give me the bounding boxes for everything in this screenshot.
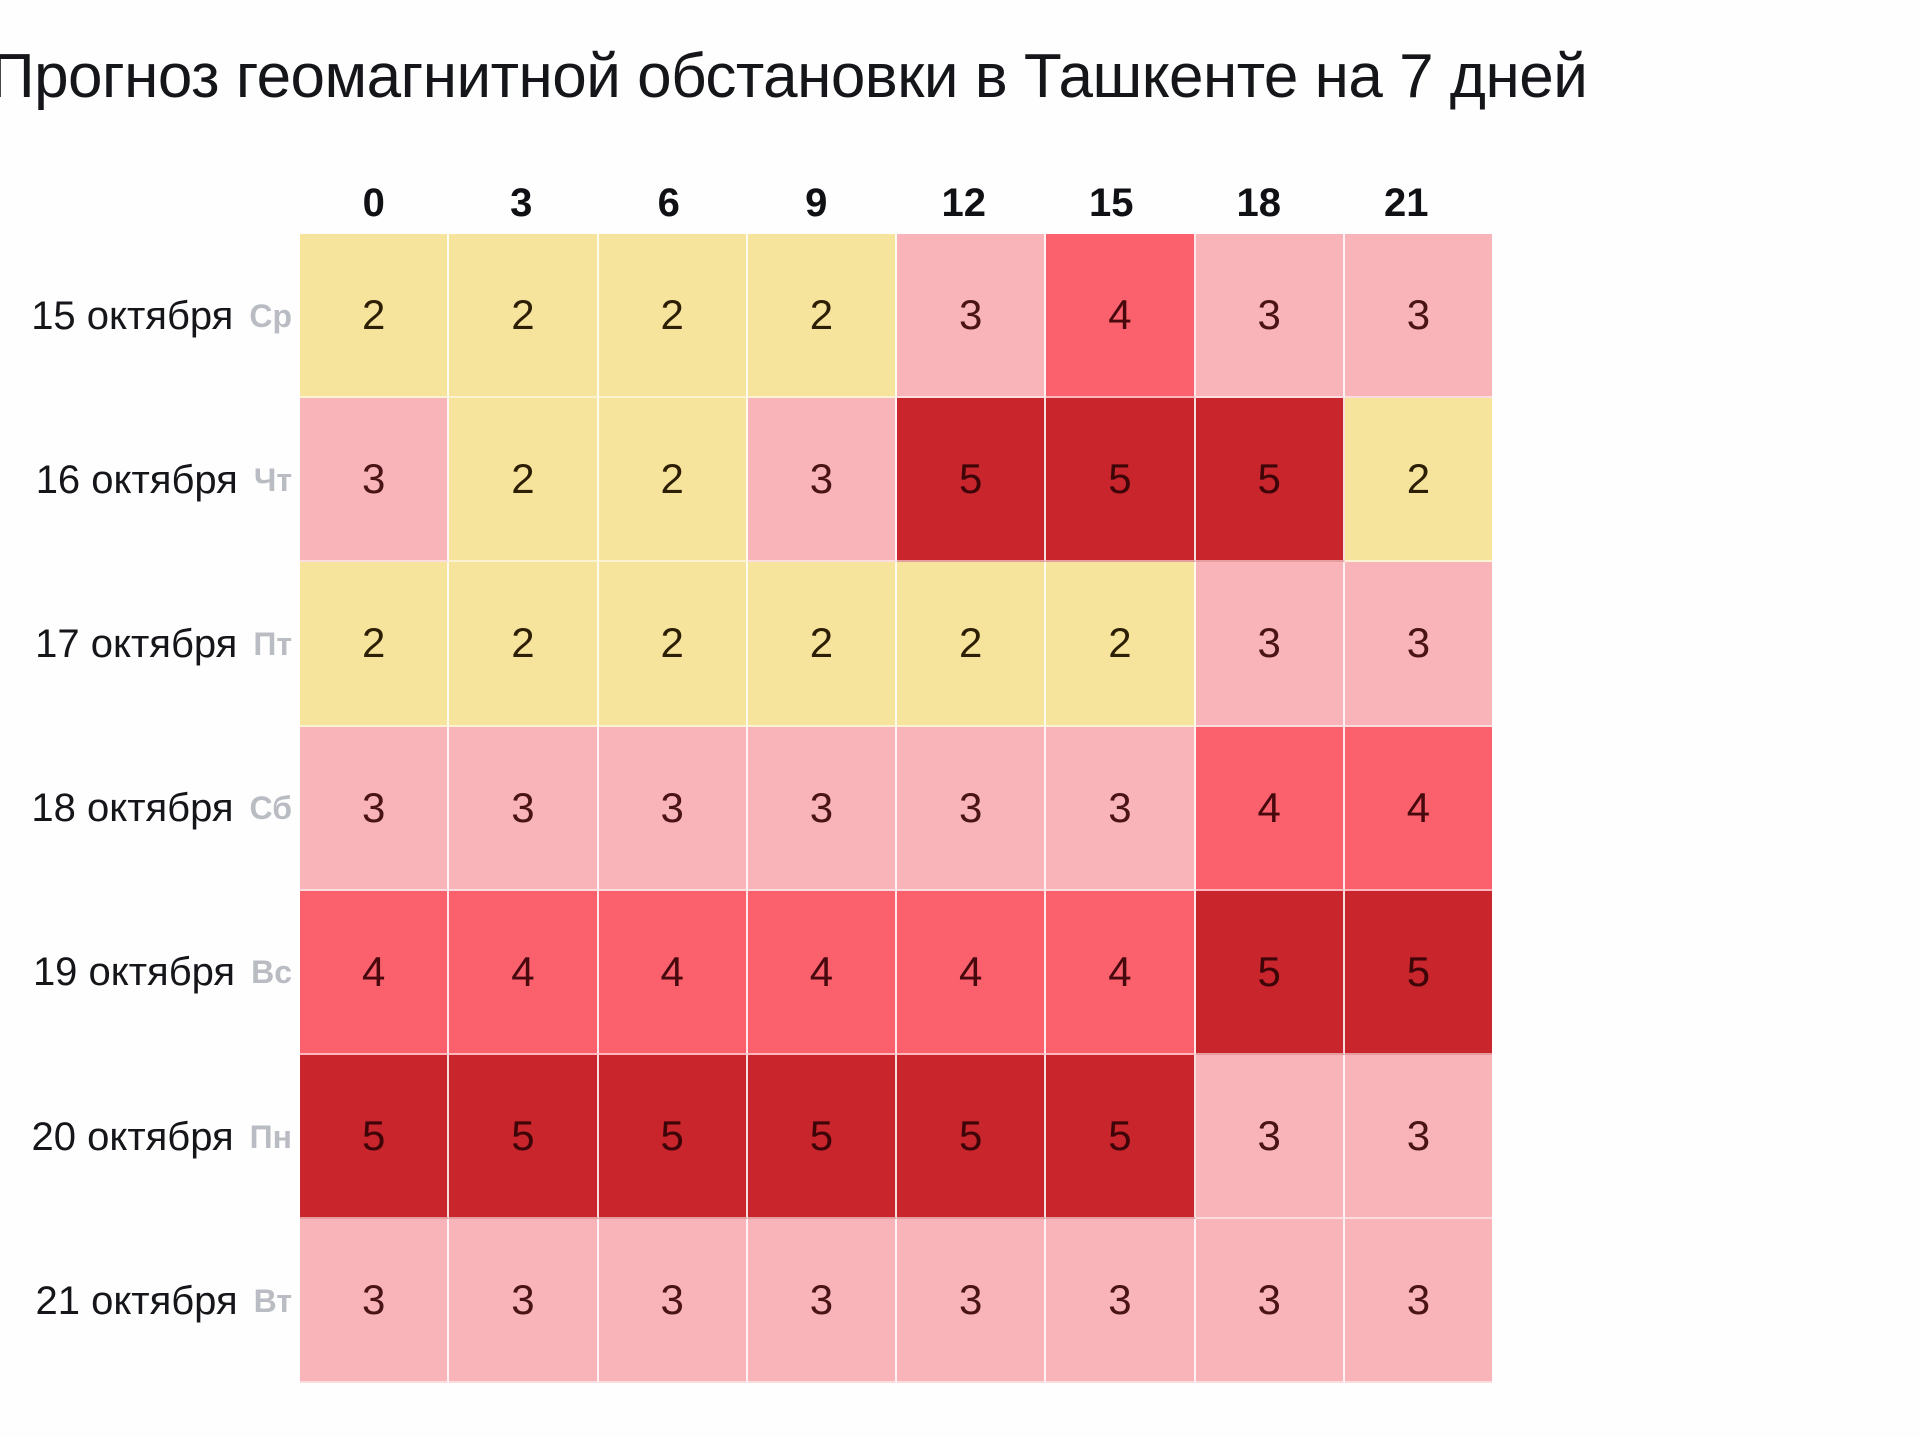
heatmap-cell[interactable]: 4 — [897, 891, 1046, 1055]
heatmap-cell[interactable]: 3 — [748, 398, 897, 562]
row-weekday: Пн — [250, 1119, 292, 1156]
hour-header-21: 21 — [1333, 172, 1481, 234]
heatmap-cell[interactable]: 4 — [1345, 727, 1492, 891]
heatmap-cell[interactable]: 2 — [599, 398, 748, 562]
row-date: 18 октября — [31, 786, 233, 831]
heatmap-row: 17 октябряПт22222233 — [0, 562, 1492, 726]
heatmap-cell[interactable]: 5 — [1046, 398, 1195, 562]
heatmap-cell[interactable]: 3 — [300, 398, 449, 562]
hour-header-18: 18 — [1185, 172, 1333, 234]
hour-header-3: 3 — [448, 172, 596, 234]
heatmap-cell[interactable]: 5 — [748, 1055, 897, 1219]
heatmap-cell[interactable]: 3 — [449, 1219, 598, 1383]
row-label: 21 октябряВт — [0, 1219, 300, 1383]
page-title: Прогноз геомагнитной обстановки в Ташкен… — [0, 40, 1920, 114]
row-weekday: Сб — [250, 790, 292, 827]
heatmap-cell[interactable]: 3 — [748, 1219, 897, 1383]
heatmap-cell[interactable]: 4 — [1196, 727, 1345, 891]
row-cells: 32235552 — [300, 398, 1492, 562]
row-weekday: Пт — [253, 626, 292, 663]
heatmap-cell[interactable]: 3 — [897, 727, 1046, 891]
row-label: 16 октябряЧт — [0, 398, 300, 562]
heatmap-cell[interactable]: 3 — [1345, 234, 1492, 398]
heatmap-cell[interactable]: 3 — [748, 727, 897, 891]
heatmap-cell[interactable]: 2 — [599, 234, 748, 398]
row-cells: 44444455 — [300, 891, 1492, 1055]
heatmap-cell[interactable]: 5 — [1046, 1055, 1195, 1219]
heatmap-rows: 15 октябряСр2222343316 октябряЧт32235552… — [0, 234, 1492, 1384]
hour-header-9: 9 — [743, 172, 891, 234]
row-label: 19 октябряВс — [0, 891, 300, 1055]
row-date: 20 октября — [32, 1115, 234, 1160]
heatmap-cell[interactable]: 2 — [748, 562, 897, 726]
row-label: 17 октябряПт — [0, 562, 300, 726]
heatmap-cell[interactable]: 4 — [748, 891, 897, 1055]
heatmap-cell[interactable]: 3 — [897, 234, 1046, 398]
hour-column-headers: 036912151821 — [300, 172, 1480, 234]
heatmap-row: 15 октябряСр22223433 — [0, 234, 1492, 398]
hour-header-15: 15 — [1038, 172, 1186, 234]
geomagnetic-forecast-heatmap: Прогноз геомагнитной обстановки в Ташкен… — [0, 0, 1920, 1437]
heatmap-cell[interactable]: 5 — [449, 1055, 598, 1219]
row-weekday: Вс — [251, 954, 292, 991]
heatmap-cell[interactable]: 3 — [300, 727, 449, 891]
row-label: 18 октябряСб — [0, 727, 300, 891]
heatmap-cell[interactable]: 3 — [897, 1219, 1046, 1383]
heatmap-cell[interactable]: 3 — [1345, 1055, 1492, 1219]
heatmap-cell[interactable]: 2 — [300, 562, 449, 726]
hour-header-6: 6 — [595, 172, 743, 234]
heatmap-cell[interactable]: 2 — [1046, 562, 1195, 726]
heatmap-cell[interactable]: 2 — [449, 562, 598, 726]
row-date: 19 октября — [33, 950, 235, 995]
heatmap-cell[interactable]: 3 — [1345, 562, 1492, 726]
heatmap-cell[interactable]: 4 — [300, 891, 449, 1055]
heatmap-grid: 036912151821 15 октябряСр2222343316 октя… — [0, 160, 1492, 1390]
row-date: 16 октября — [36, 458, 238, 503]
heatmap-chart: 036912151821 15 октябряСр2222343316 октя… — [0, 160, 1920, 1390]
heatmap-cell[interactable]: 5 — [897, 398, 1046, 562]
heatmap-cell[interactable]: 5 — [599, 1055, 748, 1219]
heatmap-cell[interactable]: 4 — [449, 891, 598, 1055]
row-cells: 22222233 — [300, 562, 1492, 726]
heatmap-cell[interactable]: 2 — [449, 234, 598, 398]
row-date: 21 октября — [35, 1279, 237, 1324]
row-weekday: Вт — [254, 1283, 292, 1320]
heatmap-cell[interactable]: 3 — [1196, 234, 1345, 398]
heatmap-cell[interactable]: 2 — [897, 562, 1046, 726]
heatmap-cell[interactable]: 5 — [300, 1055, 449, 1219]
heatmap-cell[interactable]: 5 — [1196, 398, 1345, 562]
row-cells: 22223433 — [300, 234, 1492, 398]
heatmap-cell[interactable]: 2 — [1345, 398, 1492, 562]
heatmap-cell[interactable]: 3 — [300, 1219, 449, 1383]
heatmap-cell[interactable]: 3 — [1345, 1219, 1492, 1383]
row-weekday: Чт — [254, 462, 292, 499]
row-weekday: Ср — [249, 298, 292, 335]
heatmap-cell[interactable]: 3 — [449, 727, 598, 891]
row-cells: 55555533 — [300, 1055, 1492, 1219]
heatmap-cell[interactable]: 2 — [300, 234, 449, 398]
heatmap-cell[interactable]: 2 — [748, 234, 897, 398]
heatmap-row: 20 октябряПн55555533 — [0, 1055, 1492, 1219]
heatmap-cell[interactable]: 3 — [1196, 562, 1345, 726]
row-cells: 33333333 — [300, 1219, 1492, 1383]
heatmap-cell[interactable]: 3 — [1046, 1219, 1195, 1383]
heatmap-cell[interactable]: 4 — [599, 891, 748, 1055]
heatmap-row: 18 октябряСб33333344 — [0, 727, 1492, 891]
heatmap-cell[interactable]: 4 — [1046, 234, 1195, 398]
heatmap-row: 21 октябряВт33333333 — [0, 1219, 1492, 1383]
heatmap-cell[interactable]: 3 — [1196, 1055, 1345, 1219]
heatmap-cell[interactable]: 2 — [599, 562, 748, 726]
heatmap-cell[interactable]: 5 — [1196, 891, 1345, 1055]
heatmap-cell[interactable]: 3 — [1196, 1219, 1345, 1383]
heatmap-cell[interactable]: 4 — [1046, 891, 1195, 1055]
hour-header-12: 12 — [890, 172, 1038, 234]
heatmap-row: 16 октябряЧт32235552 — [0, 398, 1492, 562]
heatmap-cell[interactable]: 3 — [599, 727, 748, 891]
heatmap-cell[interactable]: 2 — [449, 398, 598, 562]
row-label: 20 октябряПн — [0, 1055, 300, 1219]
row-date: 17 октября — [35, 622, 237, 667]
hour-header-0: 0 — [300, 172, 448, 234]
heatmap-cell[interactable]: 5 — [1345, 891, 1492, 1055]
row-cells: 33333344 — [300, 727, 1492, 891]
heatmap-cell[interactable]: 3 — [1046, 727, 1195, 891]
heatmap-cell[interactable]: 3 — [599, 1219, 748, 1383]
heatmap-cell[interactable]: 5 — [897, 1055, 1046, 1219]
row-label: 15 октябряСр — [0, 234, 300, 398]
row-date: 15 октября — [31, 294, 233, 339]
heatmap-row: 19 октябряВс44444455 — [0, 891, 1492, 1055]
